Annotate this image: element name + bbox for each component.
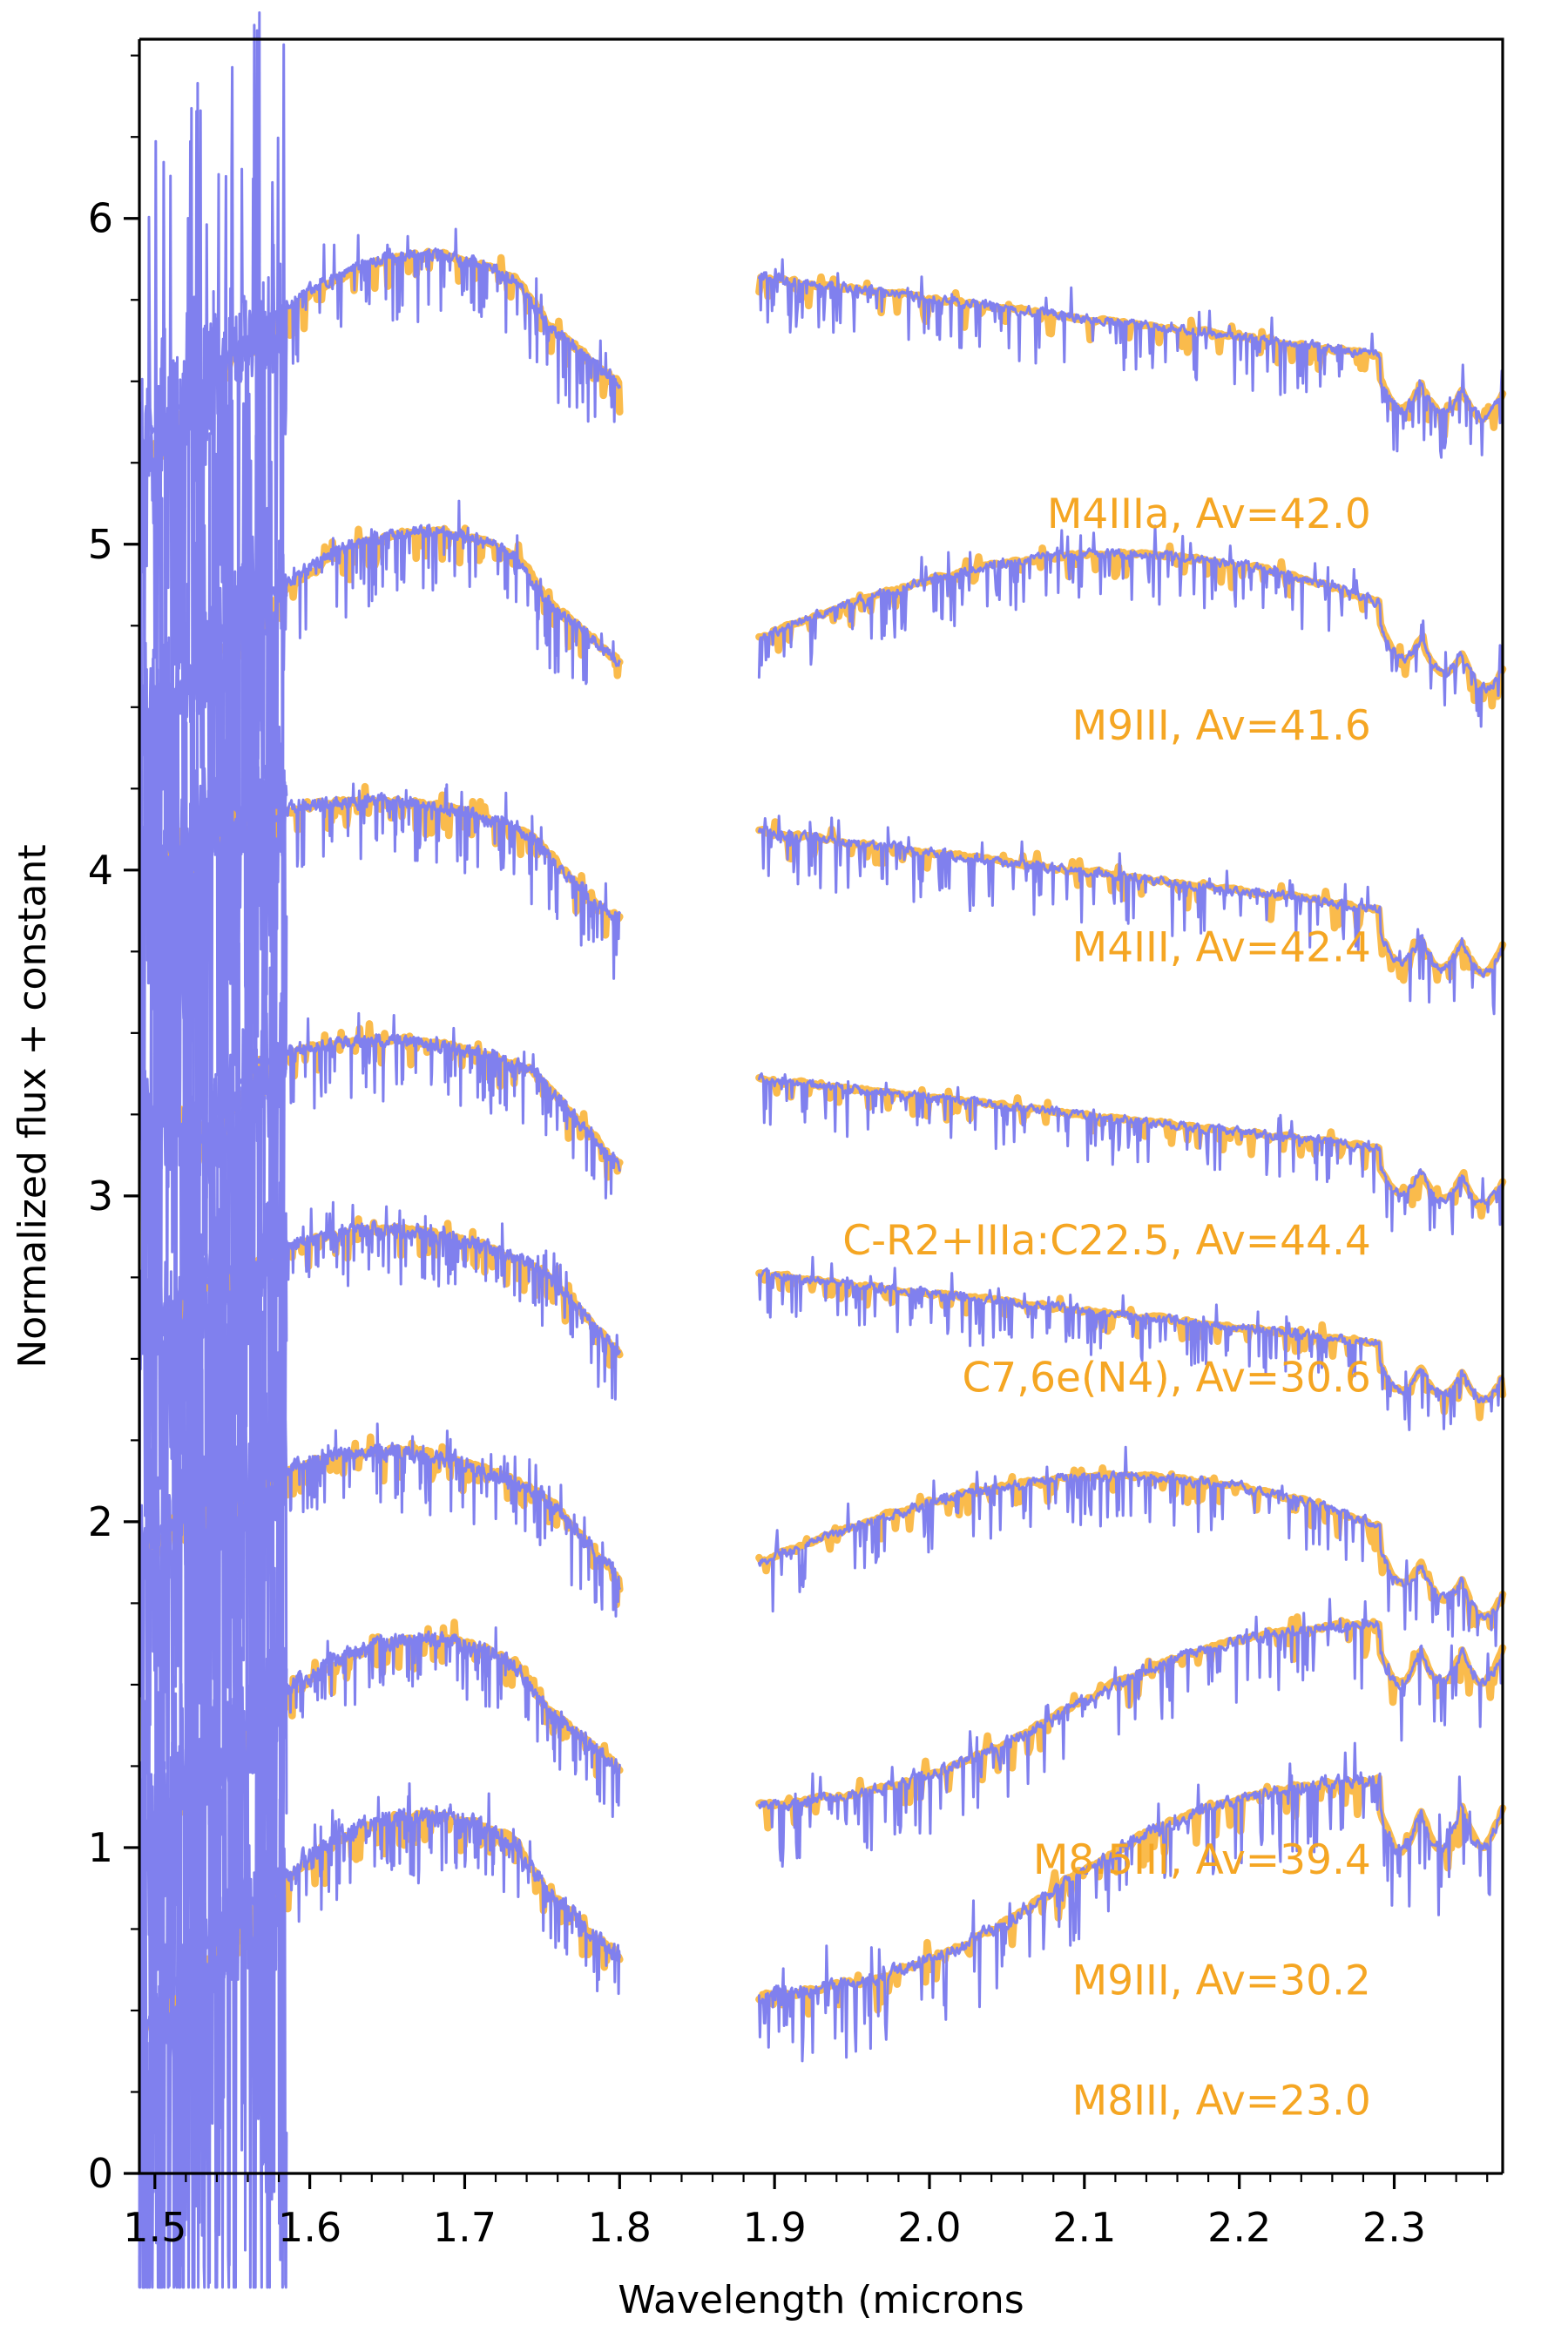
series-annotation-1: M4IIIa, Av=42.0 xyxy=(1047,490,1371,538)
series-annotation-2: M9III, Av=41.6 xyxy=(1072,702,1371,750)
plot-canvas: 1.51.61.71.81.92.02.12.22.30123456 Wavel… xyxy=(0,0,1568,2352)
x-tick-label: 1.6 xyxy=(278,2204,341,2251)
x-tick-label: 1.5 xyxy=(123,2204,186,2251)
y-tick-label: 3 xyxy=(88,1173,113,1220)
y-tick-label: 0 xyxy=(88,2150,113,2197)
spectra-figure: 1.51.61.71.81.92.02.12.22.30123456 Wavel… xyxy=(0,0,1568,2352)
y-tick-label: 1 xyxy=(88,1824,113,1871)
series-annotation-4: C-R2+IIIa:C22.5, Av=44.4 xyxy=(842,1217,1371,1265)
series-annotation-5: C7,6e(N4), Av=30.6 xyxy=(962,1354,1370,1402)
spectrum-trace-2 xyxy=(139,320,1503,1187)
x-tick-label: 2.1 xyxy=(1052,2204,1116,2251)
x-tick-label: 1.7 xyxy=(433,2204,497,2251)
x-tick-label: 2.0 xyxy=(897,2204,961,2251)
series-annotation-6: M8.5III, Av=39.4 xyxy=(1033,1836,1371,1884)
spectrum-trace-5 xyxy=(139,963,1503,1849)
y-axis-label: Normalized flux + constant xyxy=(10,844,55,1368)
y-tick-label: 6 xyxy=(88,195,113,242)
series-annotation-8: M8III, Av=23.0 xyxy=(1072,2078,1371,2126)
y-tick-label: 2 xyxy=(88,1498,113,1545)
series-annotation-3: M4III, Av=42.4 xyxy=(1072,924,1371,972)
series-annotation-7: M9III, Av=30.2 xyxy=(1072,1957,1371,2004)
y-tick-label: 4 xyxy=(88,847,113,894)
y-tick-label: 5 xyxy=(88,521,113,568)
spectra-traces xyxy=(139,13,1503,2288)
spectrum-trace-1 xyxy=(139,13,1503,931)
x-tick-label: 1.9 xyxy=(743,2204,807,2251)
x-axis-label: Wavelength (microns xyxy=(618,2278,1024,2322)
x-tick-label: 1.8 xyxy=(588,2204,652,2251)
x-tick-label: 2.2 xyxy=(1207,2204,1271,2251)
x-tick-label: 2.3 xyxy=(1362,2204,1426,2251)
